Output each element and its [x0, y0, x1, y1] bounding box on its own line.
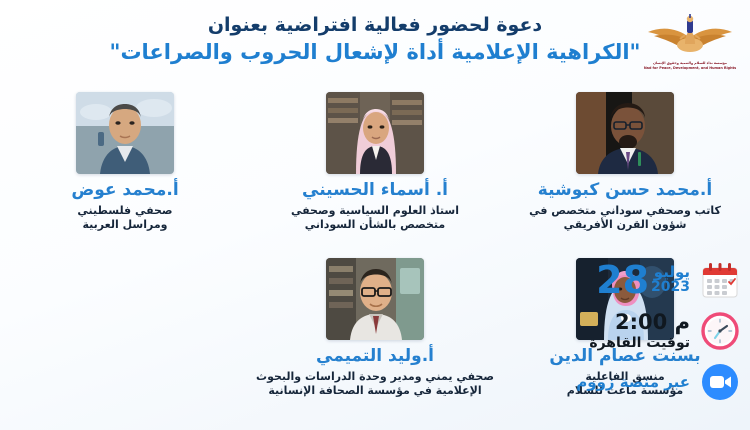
portrait-image-2 — [76, 92, 174, 174]
speaker-role-2-line2: ومراسل العربية — [6, 218, 244, 232]
speaker-card-4: أ.وليد التميمي صحفي يمني ومدير وحدة الدر… — [250, 258, 500, 398]
speaker-role-4: صحفي يمني ومدير وحدة الدراسات والبحوث ال… — [250, 370, 500, 398]
speaker-role-0: كاتب وصحفي سوداني متخصص في شؤون القرن ال… — [500, 204, 750, 232]
speaker-photo-2 — [76, 92, 174, 174]
organization-logo: مؤسسة نداء للسلام والتنمية وحقوق الإنسان… — [642, 14, 738, 84]
speaker-role-1-line1: استاذ العلوم السياسية وصحفي — [256, 204, 494, 218]
event-year: 2023 — [651, 280, 690, 295]
speaker-role-0-line2: شؤون القرن الأفريقي — [506, 218, 744, 232]
speaker-role-2-line1: صحفي فلسطيني — [6, 204, 244, 218]
zoom-video-icon[interactable] — [698, 360, 742, 404]
speaker-photo-0 — [576, 92, 674, 174]
calendar-icon — [698, 258, 742, 302]
event-day: 28 — [596, 261, 649, 299]
invitation-title-line2: "الكراهية الإعلامية أداة لإشعال الحروب و… — [0, 38, 750, 67]
logo-english-text: Nad for Peace, Development, and Human Ri… — [642, 66, 738, 71]
portrait-image-4 — [326, 258, 424, 340]
clock-icon — [698, 309, 742, 353]
portrait-image-0 — [576, 92, 674, 174]
event-invitation-poster: دعوة لحضور فعالية افتراضية بعنوان "الكرا… — [0, 0, 750, 430]
event-time: 2:00 م — [554, 311, 690, 334]
event-info-panel: 28 يوليو 2023 — [552, 258, 742, 411]
speaker-card-2: أ.محمد عوض صحفي فلسطيني ومراسل العربية — [0, 92, 250, 232]
speaker-role-4-line1: صحفي يمني ومدير وحدة الدراسات والبحوث — [256, 370, 494, 384]
speaker-role-1: استاذ العلوم السياسية وصحفي متخصص بالشأن… — [250, 204, 500, 232]
info-panel-spacer — [0, 258, 250, 398]
event-platform-row: عبر منصة زووم — [552, 360, 742, 404]
event-date-row: 28 يوليو 2023 — [552, 258, 742, 302]
speaker-role-4-line2: الإعلامية في مؤسسة الصحافة الإنسانية — [256, 384, 494, 398]
event-date-text: 28 يوليو 2023 — [552, 261, 690, 299]
invitation-title-line1: دعوة لحضور فعالية افتراضية بعنوان — [0, 12, 750, 38]
poster-header: دعوة لحضور فعالية افتراضية بعنوان "الكرا… — [0, 12, 750, 67]
event-time-value: 2:00 — [615, 310, 667, 334]
speaker-name-0: أ.محمد حسن كبوشية — [500, 180, 750, 201]
speaker-name-2: أ.محمد عوض — [0, 180, 250, 201]
logo-arabic-text: مؤسسة نداء للسلام والتنمية وحقوق الإنسان — [642, 61, 738, 66]
event-platform: عبر منصة زووم — [554, 372, 690, 392]
speaker-card-1: أ. أسماء الحسيني استاذ العلوم السياسية و… — [250, 92, 500, 232]
speaker-role-0-line1: كاتب وصحفي سوداني متخصص في — [506, 204, 744, 218]
speaker-photo-1 — [326, 92, 424, 174]
speakers-row-1: أ.محمد حسن كبوشية كاتب وصحفي سوداني متخص… — [0, 92, 750, 232]
event-time-row: 2:00 م توقيت القاهرة — [552, 309, 742, 353]
speaker-role-2: صحفي فلسطيني ومراسل العربية — [0, 204, 250, 232]
event-month: يوليو — [651, 265, 690, 280]
portrait-image-1 — [326, 92, 424, 174]
speaker-name-4: أ.وليد التميمي — [250, 346, 500, 367]
event-time-meridiem: م — [675, 310, 690, 334]
event-platform-text: عبر منصة زووم — [552, 372, 690, 392]
speaker-card-0: أ.محمد حسن كبوشية كاتب وصحفي سوداني متخص… — [500, 92, 750, 232]
winged-figure-logo-icon — [644, 14, 736, 60]
event-time-text: 2:00 م توقيت القاهرة — [552, 311, 690, 352]
speaker-role-1-line2: متخصص بالشأن السوداني — [256, 218, 494, 232]
speaker-photo-4 — [326, 258, 424, 340]
event-timezone: توقيت القاهرة — [554, 334, 690, 352]
speaker-name-1: أ. أسماء الحسيني — [250, 180, 500, 201]
